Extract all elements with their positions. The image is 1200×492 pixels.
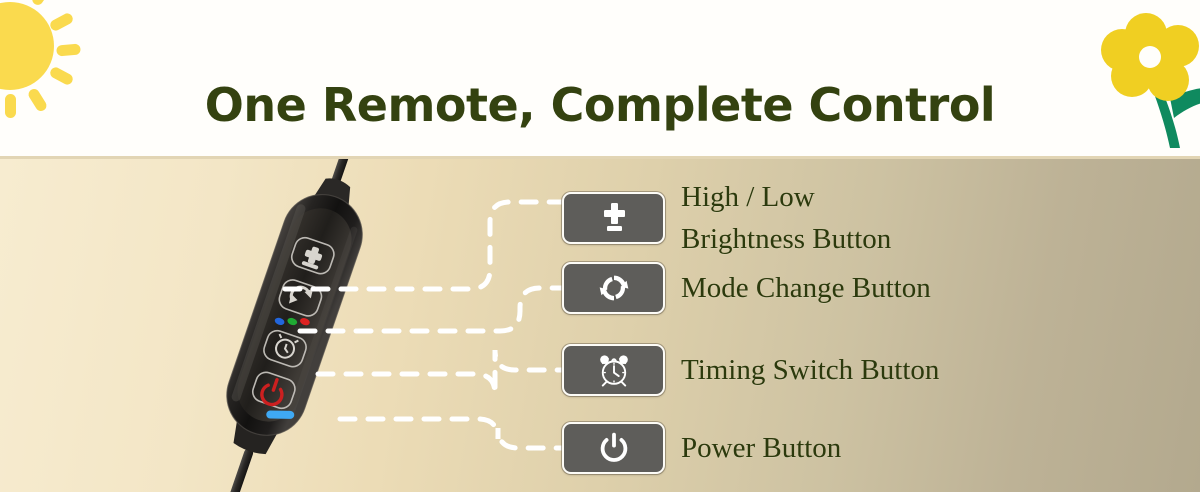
feature-row-power: Power Button bbox=[562, 422, 841, 474]
power-icon bbox=[595, 429, 633, 467]
feature-row-mode-change: Mode Change Button bbox=[562, 262, 931, 314]
power-button[interactable] bbox=[562, 422, 665, 474]
feature-list: High / Low Brightness Button bbox=[562, 159, 1200, 492]
feature-label-timing-switch: Timing Switch Button bbox=[681, 349, 939, 391]
feature-label-mode-change: Mode Change Button bbox=[681, 267, 931, 309]
page-title: One Remote, Complete Control bbox=[0, 78, 1200, 132]
feature-label-power: Power Button bbox=[681, 427, 841, 469]
promo-banner: One Remote, Complete Control bbox=[0, 0, 1200, 492]
header-band: One Remote, Complete Control bbox=[0, 0, 1200, 156]
alarm-clock-icon bbox=[595, 351, 633, 389]
main-panel: High / Low Brightness Button bbox=[0, 159, 1200, 492]
feature-row-brightness: High / Low Brightness Button bbox=[562, 176, 891, 260]
refresh-cycle-icon bbox=[595, 269, 633, 307]
inline-remote-control-image bbox=[150, 159, 430, 492]
plus-minus-icon bbox=[594, 198, 634, 238]
mode-change-button[interactable] bbox=[562, 262, 665, 314]
feature-label-brightness: High / Low Brightness Button bbox=[681, 176, 891, 260]
timing-switch-button[interactable] bbox=[562, 344, 665, 396]
brightness-button[interactable] bbox=[562, 192, 665, 244]
feature-row-timing-switch: Timing Switch Button bbox=[562, 344, 939, 396]
